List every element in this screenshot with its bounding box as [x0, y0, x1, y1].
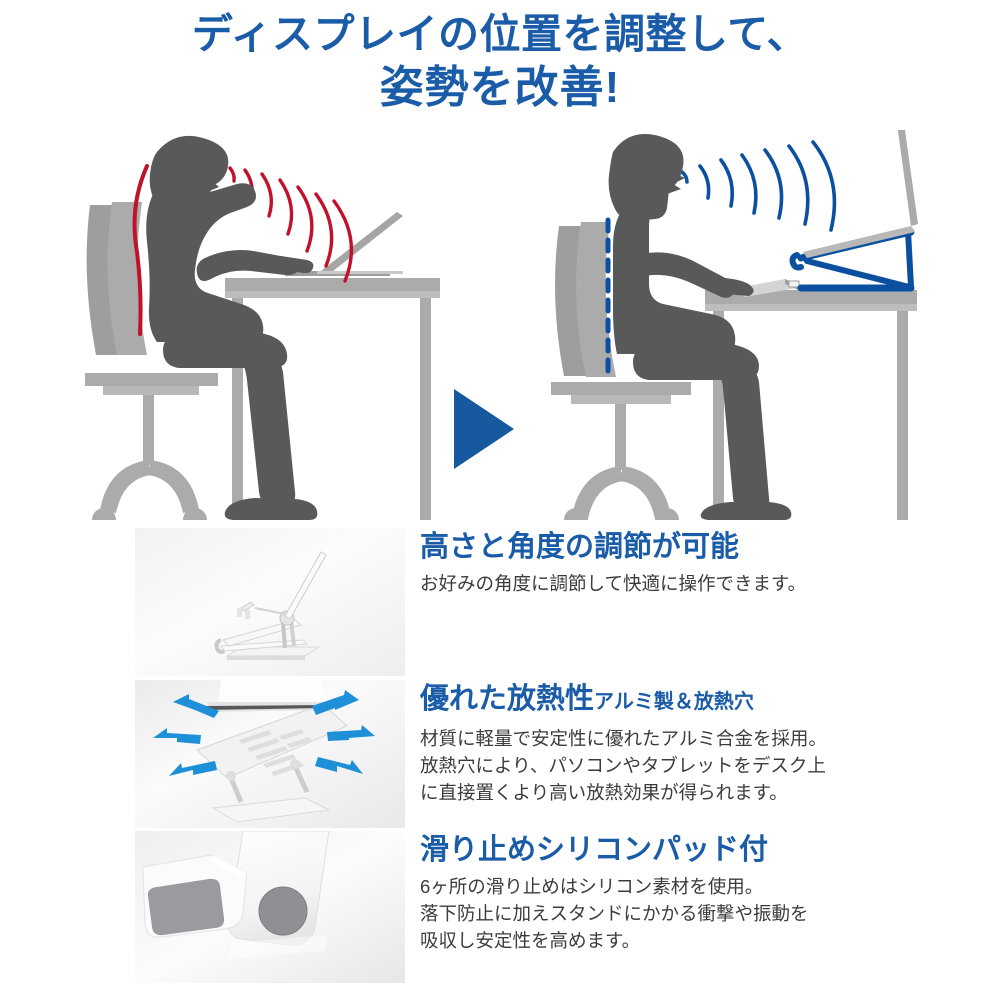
person-silhouette [609, 134, 792, 520]
laptop-stand-graphic [793, 231, 912, 288]
page-title: ディスプレイの位置を調整して、 姿勢を改善! [0, 8, 1000, 116]
headline-line-1: ディスプレイの位置を調整して、 [0, 8, 1000, 60]
heat-dissipation-arrows-photo [135, 680, 405, 828]
feature-heading-main: 高さと角度の調節が可能 [420, 531, 739, 563]
product-infographic: ディスプレイの位置を調整して、 姿勢を改善! [0, 0, 1000, 1000]
feature-body-line: 放熱穴により、パソコンやタブレットをデスク上 [420, 752, 895, 779]
feature-body-line: お好みの角度に調節して快適に操作できます。 [420, 570, 895, 597]
feature-body-line: 6ヶ所の滑り止めはシリコン素材を使用。 [420, 873, 895, 900]
silicone-pad-closeup-photo [135, 831, 405, 983]
before-after-illustration-group [0, 130, 1000, 520]
feature-text-block: 滑り止めシリコンパッド付 6ヶ所の滑り止めはシリコン素材を使用。 落下防止に加え… [420, 831, 895, 954]
person-silhouette [146, 136, 317, 520]
headline-line-2: 姿勢を改善! [0, 60, 1000, 116]
feature-text-block: 優れた放熱性アルミ製＆放熱穴 材質に軽量で安定性に優れたアルミ合金を採用。 放熱… [420, 680, 895, 806]
triangle-right-icon [448, 385, 520, 473]
feature-text-block: 高さと角度の調節が可能 お好みの角度に調節して快適に操作できます。 [420, 528, 895, 597]
bad-posture-illustration [85, 130, 445, 520]
feature-body-line: 落下防止に加えスタンドにかかる衝撃や振動を [420, 900, 895, 927]
feature-heading-main: 優れた放熱性 [420, 683, 594, 715]
feature-heading: 滑り止めシリコンパッド付 [420, 831, 895, 869]
strip-silicone-pad [148, 879, 224, 935]
feature-heading: 優れた放熱性アルミ製＆放熱穴 [420, 680, 895, 721]
good-posture-illustration [545, 130, 945, 520]
feature-list: 高さと角度の調節が可能 お好みの角度に調節して快適に操作できます。 [0, 528, 1000, 998]
feature-body-line: 材質に軽量で安定性に優れたアルミ合金を採用。 [420, 725, 895, 752]
laptop-stand-side-view-photo [135, 528, 405, 676]
sightline-waves-icon [682, 142, 834, 230]
feature-heading-main: 滑り止めシリコンパッド付 [420, 834, 768, 866]
feature-heading-sub: アルミ製＆放熱穴 [594, 691, 754, 713]
feature-heading: 高さと角度の調節が可能 [420, 528, 895, 566]
feature-body-line: 吸収し安定性を高めます。 [420, 927, 895, 954]
feature-body-line: に直接置くより高い放熱効果が得られます。 [420, 779, 895, 806]
